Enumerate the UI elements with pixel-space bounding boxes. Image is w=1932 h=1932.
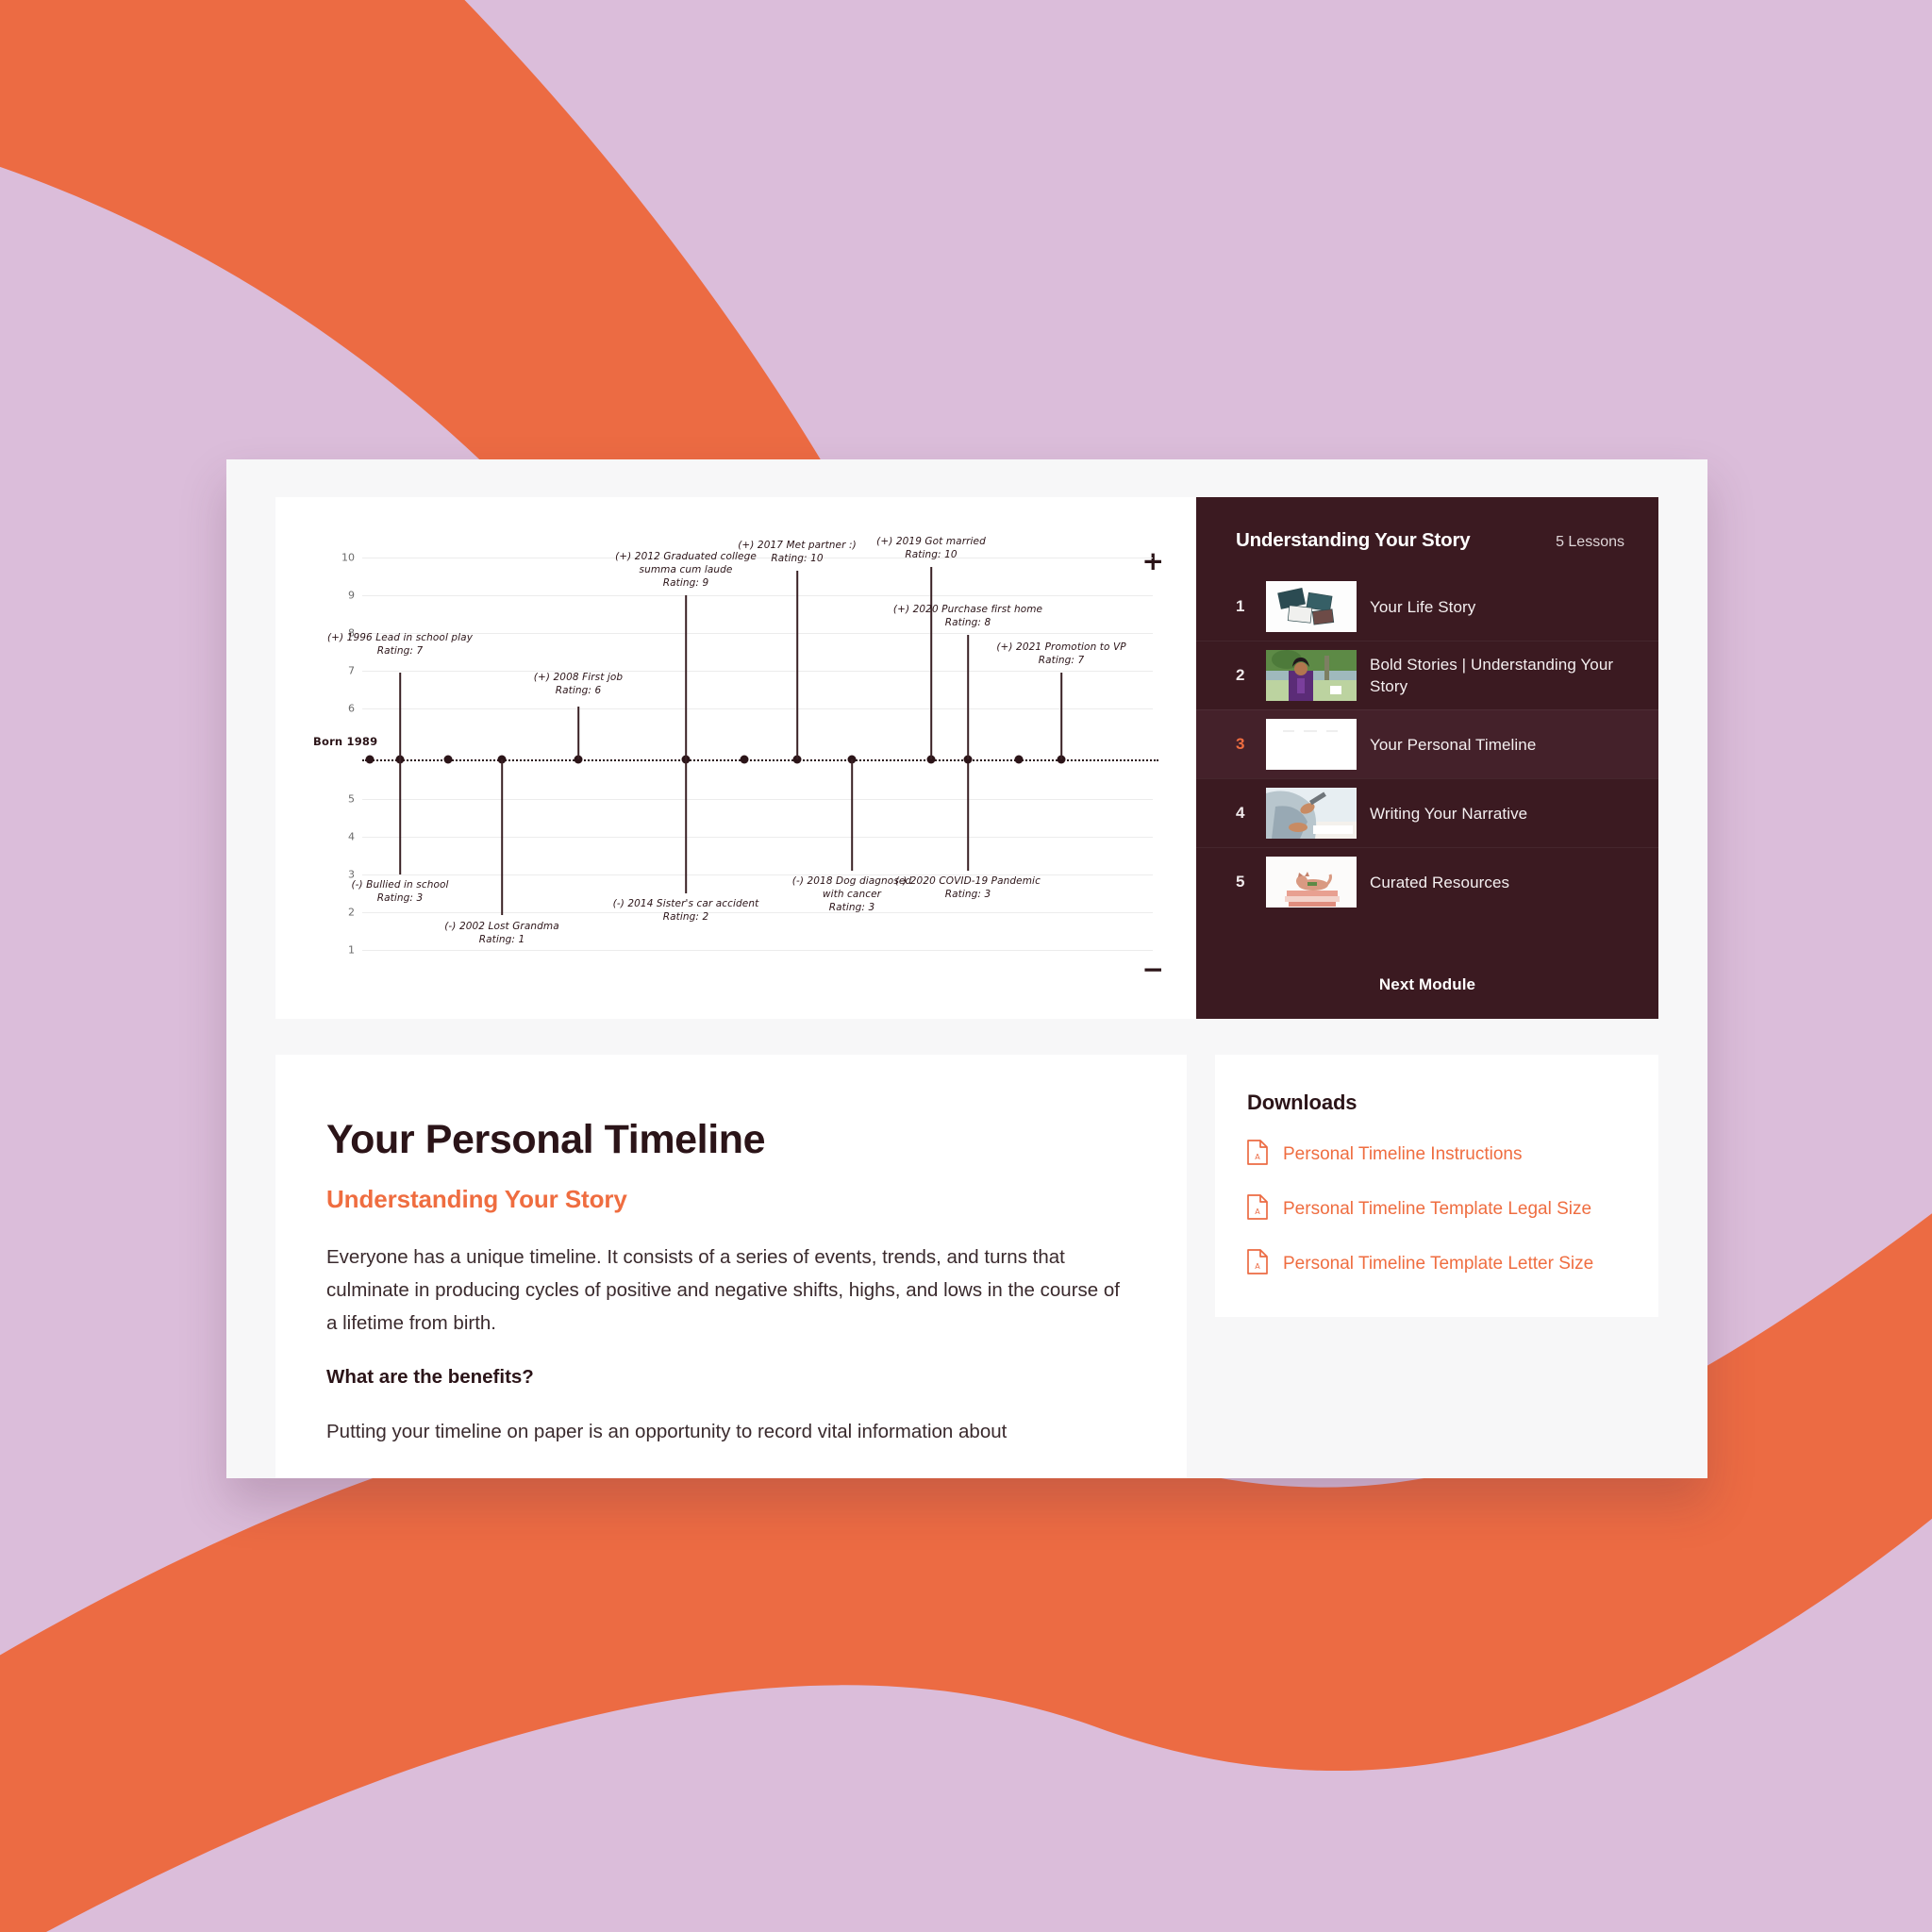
chart-plot-area: 10 9 8 7 6 5 4 3 2 1 Born 1989 (+) 1996 …: [313, 537, 1158, 980]
sidebar-item-label: Your Personal Timeline: [1370, 734, 1536, 756]
sidebar-item-bold-stories[interactable]: 2 Bold Stories | Under: [1196, 641, 1658, 709]
event-stem: [685, 759, 687, 893]
pdf-file-icon: A: [1247, 1249, 1268, 1279]
y-axis-tick-5: 5: [313, 793, 355, 806]
event-stem: [1060, 673, 1062, 759]
lesson-count: 5 Lessons: [1556, 534, 1624, 551]
event-label: (+) 2021 Promotion to VP Rating: 7: [953, 641, 1170, 667]
person-writing-thumbnail: [1266, 788, 1357, 839]
y-axis-tick-9: 9: [313, 590, 355, 602]
page-title: Your Personal Timeline: [326, 1117, 1136, 1162]
gridline: [362, 595, 1153, 596]
next-module-wrapper: Next Module: [1196, 957, 1658, 1019]
event-label: (+) 2008 First job Rating: 6: [470, 671, 687, 697]
cat-on-books-thumbnail: [1266, 857, 1357, 908]
course-page-card: + − 10 9 8 7 6 5 4: [226, 459, 1707, 1478]
event-stem: [577, 707, 579, 759]
photos-scattered-thumbnail: [1266, 581, 1357, 632]
lesson-number: 5: [1236, 873, 1253, 891]
lesson-number: 1: [1236, 597, 1253, 616]
lesson-number: 3: [1236, 735, 1253, 754]
event-stem: [967, 759, 969, 871]
y-axis-tick-6: 6: [313, 703, 355, 715]
event-label: (-) Bullied in school Rating: 3: [291, 878, 508, 905]
lessons-sidebar: Understanding Your Story 5 Lessons 1 You…: [1196, 497, 1658, 1019]
download-label: Personal Timeline Template Letter Size: [1283, 1252, 1593, 1276]
pdf-file-icon: A: [1247, 1194, 1268, 1224]
event-label: (-) 2020 COVID-19 Pandemic Rating: 3: [859, 874, 1076, 901]
event-label: (+) 2019 Got married Rating: 10: [823, 535, 1040, 561]
event-dot: [1015, 756, 1024, 764]
lesson-number: 2: [1236, 666, 1253, 685]
event-label: (+) 1996 Lead in school play Rating: 7: [291, 631, 508, 658]
y-axis-tick-10: 10: [313, 552, 355, 564]
gridline: [362, 799, 1153, 800]
download-link-template-letter[interactable]: A Personal Timeline Template Letter Size: [1247, 1249, 1626, 1279]
top-section: + − 10 9 8 7 6 5 4: [275, 497, 1658, 1019]
download-link-instructions[interactable]: A Personal Timeline Instructions: [1247, 1140, 1626, 1170]
y-axis-tick-4: 4: [313, 831, 355, 843]
download-label: Personal Timeline Instructions: [1283, 1142, 1522, 1167]
sidebar-item-label: Your Life Story: [1370, 596, 1475, 618]
downloads-panel: Downloads A Personal Timeline Instructio…: [1215, 1055, 1658, 1317]
y-axis-tick-7: 7: [313, 665, 355, 677]
page-subtitle: Understanding Your Story: [326, 1185, 1136, 1214]
event-dot: [444, 756, 453, 764]
lessons-header: Understanding Your Story 5 Lessons: [1196, 497, 1658, 573]
born-label: Born 1989: [313, 735, 377, 748]
next-module-button[interactable]: Next Module: [1355, 966, 1500, 1004]
module-title: Understanding Your Story: [1236, 529, 1470, 552]
event-label: (-) 2002 Lost Grandma Rating: 1: [393, 920, 610, 946]
svg-text:A: A: [1255, 1207, 1260, 1216]
event-stem: [399, 673, 401, 759]
event-stem: [930, 567, 932, 759]
lesson-number: 4: [1236, 804, 1253, 823]
sidebar-item-label: Bold Stories | Understanding Your Story: [1370, 654, 1630, 697]
sidebar-item-label: Writing Your Narrative: [1370, 803, 1527, 824]
timeline-chart-panel: + − 10 9 8 7 6 5 4: [275, 497, 1196, 1019]
event-stem: [501, 759, 503, 915]
event-stem: [851, 759, 853, 871]
svg-text:A: A: [1255, 1153, 1260, 1161]
article-paragraph-1: Everyone has a unique timeline. It consi…: [326, 1241, 1136, 1340]
sidebar-item-writing-your-narrative[interactable]: 4 Writing Your Narrative: [1196, 778, 1658, 847]
svg-text:A: A: [1255, 1262, 1260, 1271]
woman-on-bench-video-thumbnail: [1266, 650, 1357, 701]
download-label: Personal Timeline Template Legal Size: [1283, 1197, 1591, 1222]
blank-white-thumbnail: [1266, 719, 1357, 770]
pdf-file-icon: A: [1247, 1140, 1268, 1170]
event-stem: [796, 571, 798, 759]
y-axis-tick-2: 2: [313, 907, 355, 919]
sidebar-item-your-life-story[interactable]: 1 Your Life Story: [1196, 573, 1658, 641]
article-heading-benefits: What are the benefits?: [326, 1366, 1136, 1389]
event-stem: [685, 595, 687, 759]
event-dot: [741, 756, 749, 764]
sidebar-item-your-personal-timeline[interactable]: 3 Your Personal Timeline: [1196, 709, 1658, 778]
y-axis-tick-1: 1: [313, 944, 355, 957]
article-panel: Your Personal Timeline Understanding You…: [275, 1055, 1187, 1478]
event-stem: [399, 759, 401, 874]
download-link-template-legal[interactable]: A Personal Timeline Template Legal Size: [1247, 1194, 1626, 1224]
article-paragraph-2: Putting your timeline on paper is an opp…: [326, 1415, 1136, 1448]
bottom-section: Your Personal Timeline Understanding You…: [275, 1055, 1658, 1478]
gridline: [362, 708, 1153, 709]
event-dot: [366, 756, 375, 764]
gridline: [362, 837, 1153, 838]
sidebar-item-label: Curated Resources: [1370, 872, 1509, 893]
gridline: [362, 950, 1153, 951]
event-label: (+) 2020 Purchase first home Rating: 8: [859, 603, 1076, 629]
timeline-baseline: [362, 759, 1158, 761]
downloads-heading: Downloads: [1247, 1091, 1626, 1115]
sidebar-item-curated-resources[interactable]: 5 Curated Resources: [1196, 847, 1658, 916]
